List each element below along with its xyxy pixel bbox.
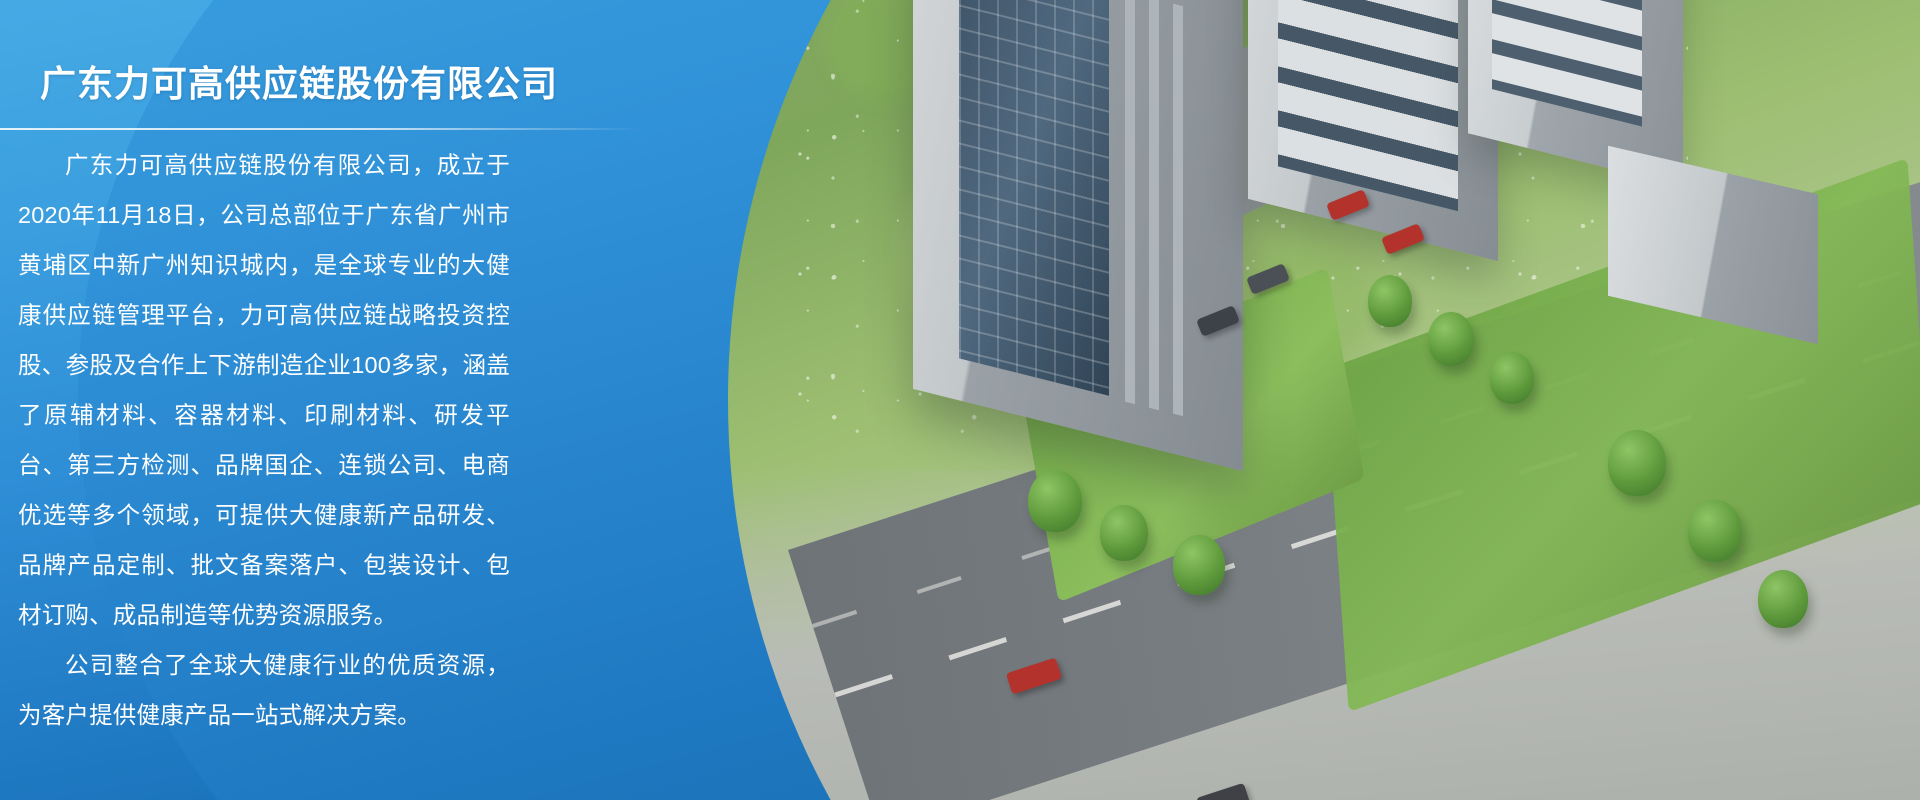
tree (1368, 275, 1412, 327)
description-paragraph-2: 公司整合了全球大健康行业的优质资源，为客户提供健康产品一站式解决方案。 (18, 640, 510, 740)
description-paragraph-1: 广东力可高供应链股份有限公司，成立于2020年11月18日，公司总部位于广东省广… (18, 140, 510, 640)
main-building-curtain-wall (959, 0, 1109, 396)
banner-stage: 广东力可高供应链股份有限公司 广东力可高供应链股份有限公司，成立于2020年11… (0, 0, 1920, 800)
tree (1608, 430, 1666, 496)
facade-fin-b (1149, 0, 1159, 410)
text-column: 广东力可高供应链股份有限公司 广东力可高供应链股份有限公司，成立于2020年11… (0, 0, 640, 800)
title-divider (0, 128, 640, 130)
tree (1758, 570, 1808, 628)
main-office-building (913, 0, 1243, 471)
campus-photo (728, 0, 1920, 800)
tree (1028, 470, 1082, 532)
facade-fin-c (1173, 4, 1183, 416)
facade-fin-a (1125, 0, 1135, 404)
tree (1173, 535, 1225, 595)
tree (1100, 505, 1148, 561)
tree (1428, 312, 1474, 366)
company-description: 广东力可高供应链股份有限公司，成立于2020年11月18日，公司总部位于广东省广… (18, 140, 510, 740)
page-title: 广东力可高供应链股份有限公司 (40, 55, 558, 107)
tree (1490, 352, 1534, 404)
campus-photo-image (728, 0, 1920, 800)
third-building-windows (1492, 0, 1642, 127)
secondary-building-windows (1278, 0, 1458, 211)
tree (1688, 500, 1742, 562)
